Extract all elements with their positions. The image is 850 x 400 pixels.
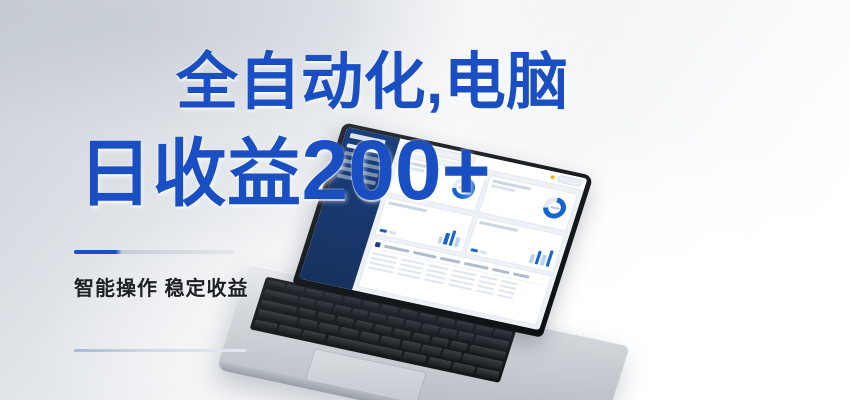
keyboard-key [386, 316, 404, 327]
keyboard-key [457, 331, 475, 342]
dashboard-logo [349, 133, 385, 145]
keyboard-key [421, 324, 439, 335]
laptop-device [250, 112, 630, 362]
chart-legend [471, 249, 488, 254]
keyboard-key [404, 320, 422, 331]
donut-chart [449, 176, 478, 201]
card-title [388, 201, 427, 212]
keyboard-key [368, 312, 386, 323]
card-title [479, 220, 518, 231]
keyboard-key [333, 305, 351, 316]
accent-divider-top [74, 250, 234, 254]
notification-icon[interactable] [550, 175, 555, 180]
table-icon [374, 242, 381, 248]
bar-chart [438, 227, 463, 247]
accent-divider-bottom [74, 349, 246, 352]
donut-chart [540, 195, 569, 220]
bar-chart [529, 246, 554, 266]
chart-legend [379, 229, 396, 234]
subtitle: 智能操作 稳定收益 [74, 272, 249, 301]
keyboard-key [351, 309, 369, 320]
headline-line-1: 全自动化,电脑 [176, 52, 569, 114]
keyboard-key [298, 297, 316, 308]
keyboard-key [439, 328, 457, 339]
promo-poster: 全自动化,电脑 日收益200+ 智能操作 稳定收益 [0, 0, 850, 400]
keyboard-key [315, 301, 333, 312]
